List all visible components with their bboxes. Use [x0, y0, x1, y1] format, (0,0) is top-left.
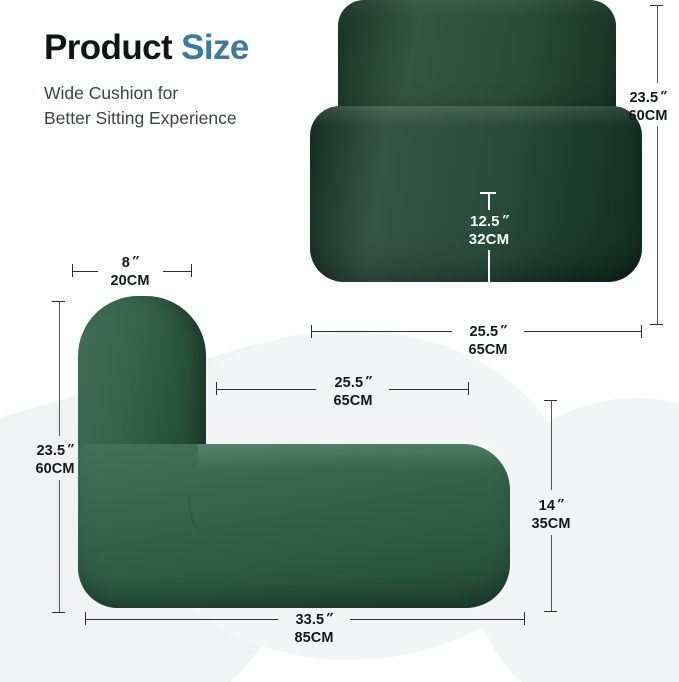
dim-line-side-height-lower	[59, 480, 60, 612]
dim-line-side-depth-left	[216, 389, 316, 390]
page-title-accent: Size	[181, 28, 249, 67]
dim-tick-side-height-bottom	[52, 612, 65, 613]
dim-line-side-depth-right	[389, 389, 469, 390]
dim-line-side-overall-right	[350, 619, 525, 620]
dim-line-front-seatheight-upper	[488, 194, 490, 210]
side-view-sofa	[78, 296, 510, 608]
dim-tick-front-height-bottom	[650, 324, 663, 325]
dim-tick-side-overall-right	[524, 612, 525, 625]
front-view-backrest-shading	[338, 0, 616, 118]
inch-symbol-icon: ″	[65, 441, 75, 457]
dim-label-side-overall-depth: 33.5″ 85CM	[281, 610, 347, 647]
dim-line-side-height-upper	[59, 301, 60, 436]
inch-symbol-icon: ″	[130, 253, 140, 269]
dim-tick-side-seatheight-bottom	[544, 611, 557, 612]
front-view-sofa	[310, 0, 642, 330]
dim-label-side-seat-depth: 25.5″ 65CM	[320, 373, 386, 410]
product-size-infographic: Product Size Wide Cushion for Better Sit…	[0, 0, 679, 682]
page-title-main: Product	[44, 28, 172, 67]
dim-label-side-backrest-thickness: 8″ 20CM	[98, 253, 162, 290]
dim-line-front-height-upper	[657, 5, 658, 83]
front-view-seat-highlight	[314, 106, 638, 126]
dim-line-side-thickness-left	[72, 271, 98, 272]
dim-line-front-height-lower	[657, 126, 658, 324]
front-view-seat-shading	[310, 106, 642, 282]
dim-label-side-overall-height: 23.5″ 60CM	[22, 441, 88, 478]
front-view-backrest	[338, 0, 616, 118]
inch-symbol-icon: ″	[500, 212, 510, 228]
dim-label-side-seat-height: 14″ 35CM	[518, 496, 584, 533]
dim-tick-front-width-right	[641, 325, 642, 338]
dim-line-side-overall-left	[85, 619, 278, 620]
side-view-seat-highlight	[198, 444, 510, 470]
inch-symbol-icon: ″	[363, 373, 373, 389]
dim-line-side-thickness-right	[163, 271, 192, 272]
inch-symbol-icon: ″	[324, 610, 334, 626]
dim-line-front-width-right	[524, 331, 642, 332]
dim-tick-side-thickness-right	[191, 264, 192, 277]
dim-tick-side-depth-right	[468, 382, 469, 395]
inch-symbol-icon: ″	[555, 496, 565, 512]
dim-line-side-seatheight-lower	[551, 535, 552, 612]
dim-line-side-seatheight-upper	[551, 400, 552, 490]
inch-symbol-icon: ″	[658, 88, 668, 104]
dim-label-front-seat-height: 12.5″ 32CM	[452, 212, 526, 250]
dim-label-front-backrest-height: 23.5″ 60CM	[617, 88, 679, 125]
front-view-seat-cushion	[310, 106, 642, 282]
